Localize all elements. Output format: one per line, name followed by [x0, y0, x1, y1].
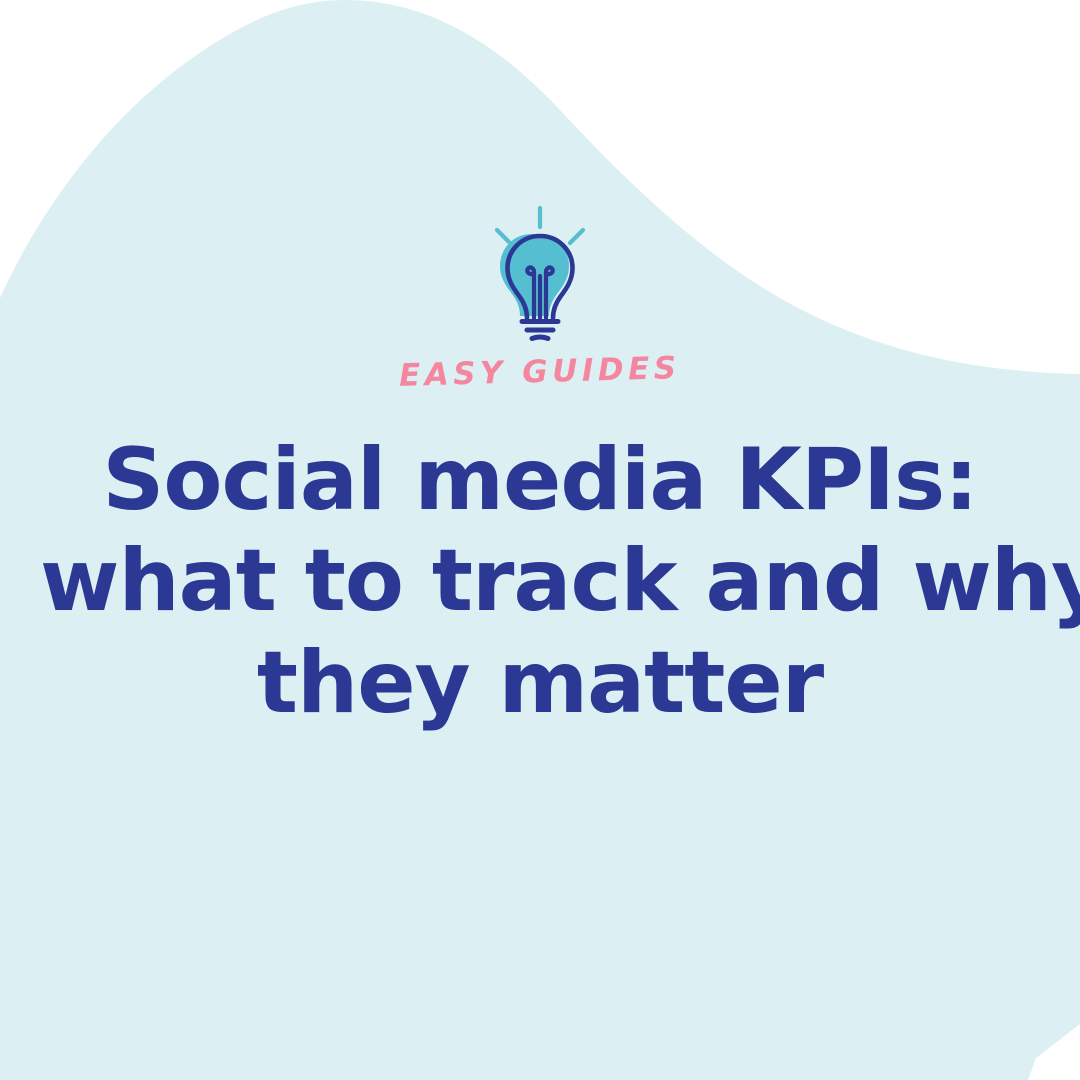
poster-canvas: EASY GUIDES Social media KPIs: what to t…	[0, 0, 1080, 1080]
lightbulb-icon	[475, 206, 605, 341]
logo-block: EASY GUIDES	[0, 206, 1080, 388]
lightbulb-base-icon	[522, 322, 558, 339]
brand-name: EASY GUIDES	[399, 353, 681, 392]
page-title: Social media KPIs: what to track and why…	[40, 430, 1040, 734]
page-title-line-1: Social media KPIs:	[40, 430, 1040, 531]
page-title-line-2: what to track and why	[40, 531, 1040, 632]
page-title-line-3: they matter	[40, 633, 1040, 734]
